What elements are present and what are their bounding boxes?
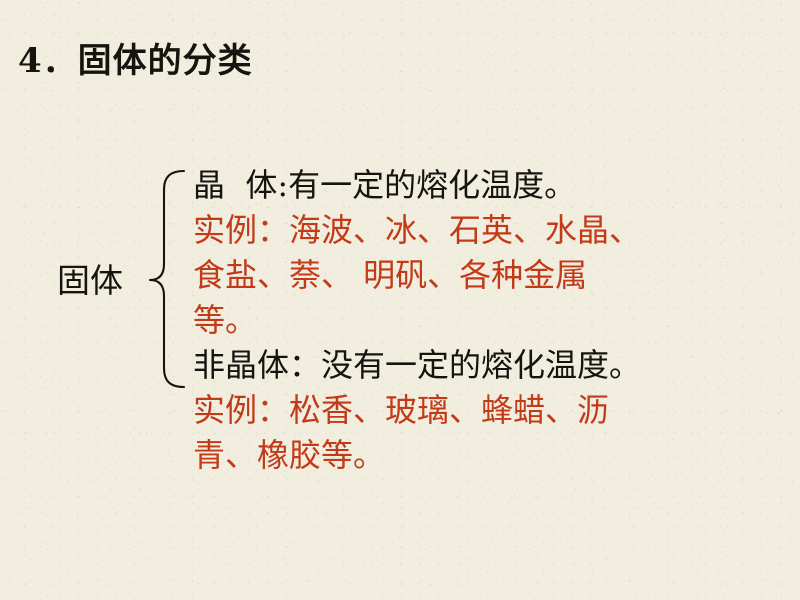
content-lines: 晶 体:有一定的熔化温度。 实例：海波、冰、石英、水晶、 食盐、萘、 明矾、各种… <box>193 163 793 478</box>
line-noncrystal-examples-1: 实例：松香、玻璃、蜂蜡、沥 <box>193 388 793 433</box>
line-crystal-definition: 晶 体:有一定的熔化温度。 <box>193 163 793 208</box>
curly-brace-icon <box>148 168 186 390</box>
branch-label-solid: 固体 <box>57 264 123 297</box>
line-crystal-examples-2: 食盐、萘、 明矾、各种金属 <box>193 253 793 298</box>
line-noncrystal-definition: 非晶体：没有一定的熔化温度。 <box>193 343 793 388</box>
line-crystal-examples-1: 实例：海波、冰、石英、水晶、 <box>193 208 793 253</box>
line-noncrystal-examples-2: 青、橡胶等。 <box>193 433 793 478</box>
slide-canvas: 4．固体的分类 固体 晶 体:有一定的熔化温度。 实例：海波、冰、石英、水晶、 … <box>0 0 800 600</box>
page-title: 4．固体的分类 <box>18 44 253 78</box>
line-crystal-examples-3: 等。 <box>193 298 793 343</box>
